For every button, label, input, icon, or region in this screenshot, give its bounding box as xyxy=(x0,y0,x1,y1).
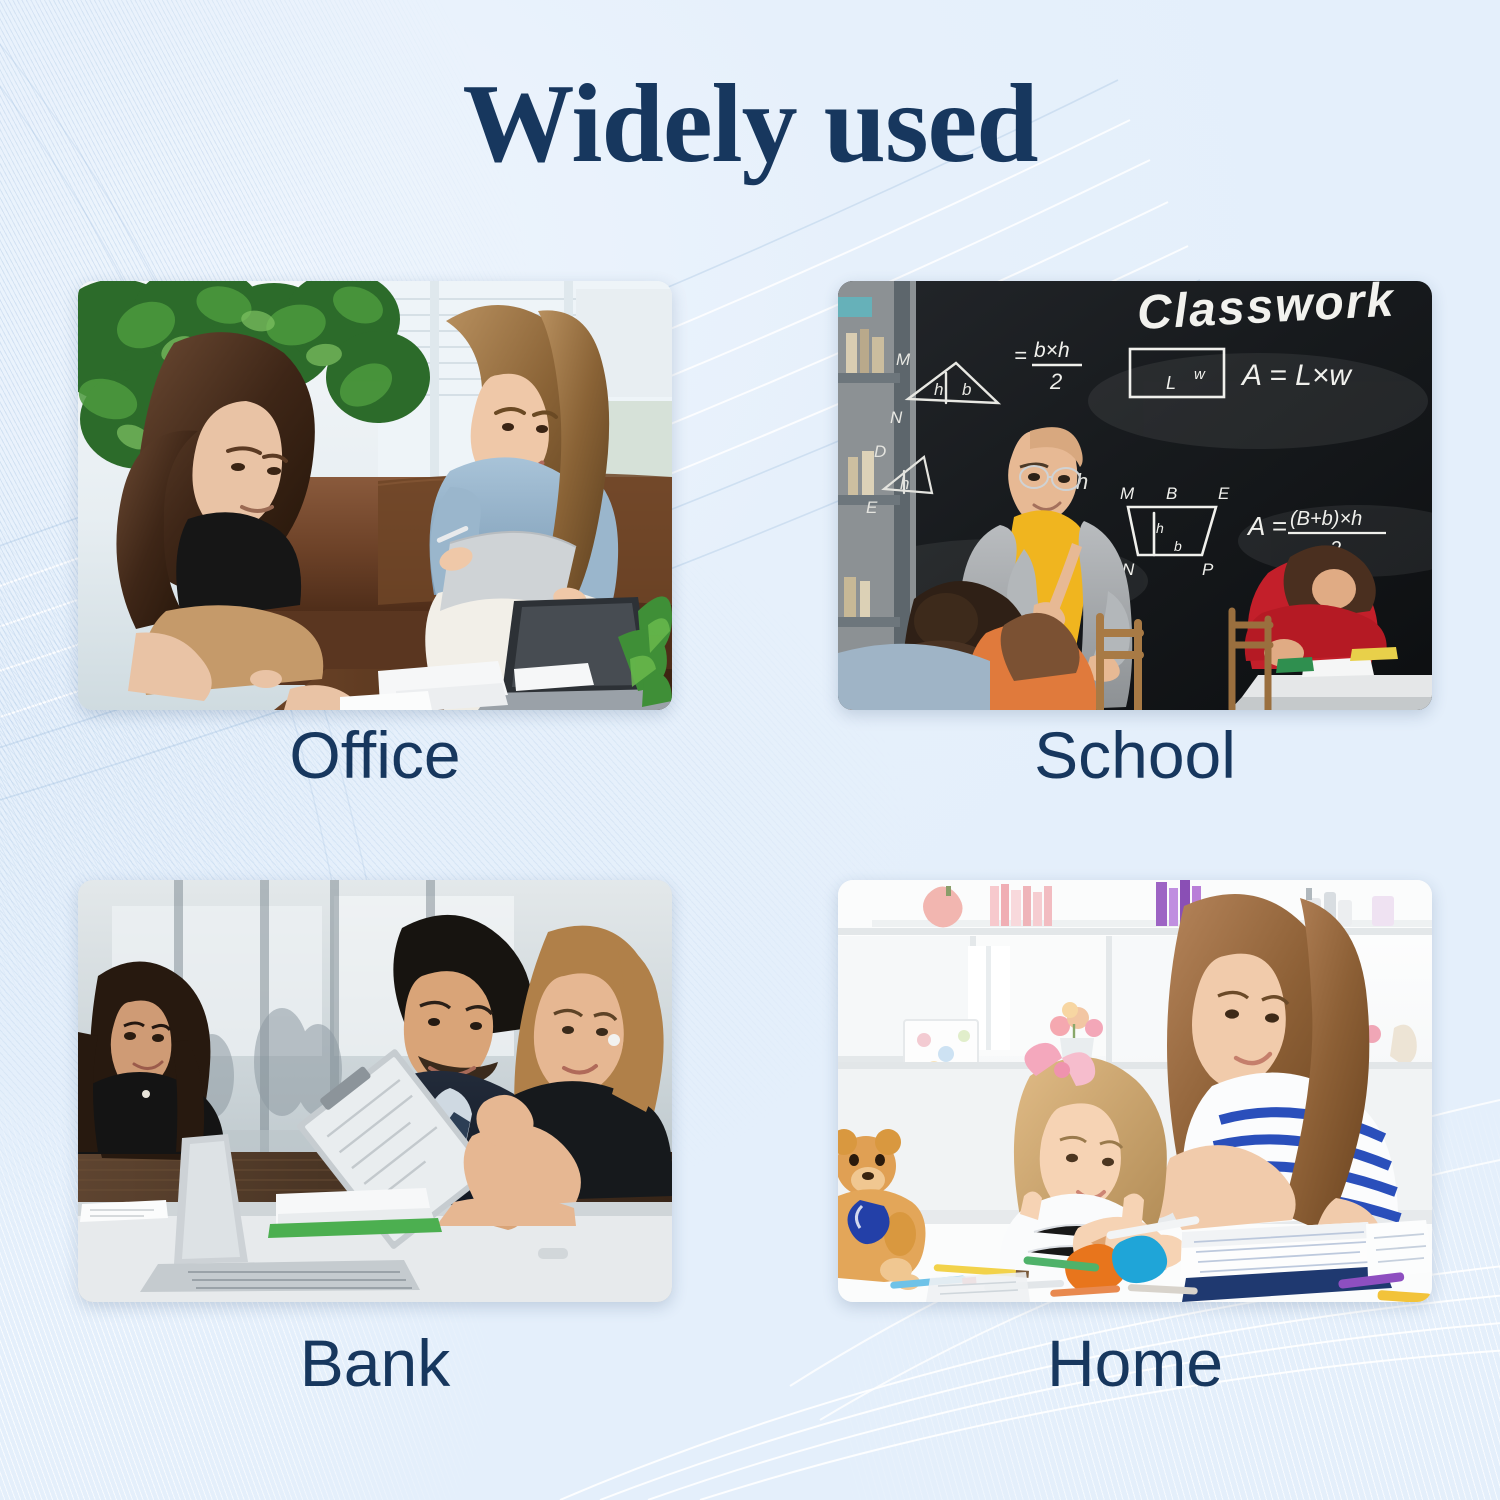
bank-photo xyxy=(78,880,672,1302)
svg-text:=: = xyxy=(1014,343,1027,368)
home-label: Home xyxy=(838,1330,1432,1396)
svg-text:M: M xyxy=(896,350,911,369)
svg-text:b: b xyxy=(1174,538,1182,554)
svg-text:L: L xyxy=(1166,373,1176,393)
svg-text:M: M xyxy=(1120,484,1135,503)
office-photo xyxy=(78,281,672,710)
school-label: School xyxy=(838,722,1432,788)
home-photo xyxy=(838,880,1432,1302)
svg-text:E: E xyxy=(866,498,878,517)
svg-text:P: P xyxy=(1202,560,1214,579)
svg-text:E: E xyxy=(1218,484,1230,503)
svg-text:h: h xyxy=(900,474,909,493)
svg-text:h: h xyxy=(934,380,943,399)
svg-text:N: N xyxy=(890,408,903,427)
svg-text:B: B xyxy=(1166,484,1177,503)
svg-text:w: w xyxy=(1194,366,1206,383)
svg-text:h: h xyxy=(1156,520,1164,536)
bank-label: Bank xyxy=(78,1330,672,1396)
office-label: Office xyxy=(78,722,672,788)
school-photo: Classwork M N h b = b×h 2 xyxy=(838,281,1432,710)
svg-text:b: b xyxy=(962,380,971,399)
page-title: Widely used xyxy=(0,66,1500,184)
svg-text:A = L×w: A = L×w xyxy=(1240,359,1353,392)
infographic-canvas: Widely used xyxy=(0,0,1500,1500)
svg-text:A =: A = xyxy=(1246,511,1287,541)
svg-text:b×h: b×h xyxy=(1034,339,1070,362)
svg-text:D: D xyxy=(874,442,886,461)
svg-text:(B+b)×h: (B+b)×h xyxy=(1290,508,1362,530)
svg-text:2: 2 xyxy=(1049,369,1062,394)
